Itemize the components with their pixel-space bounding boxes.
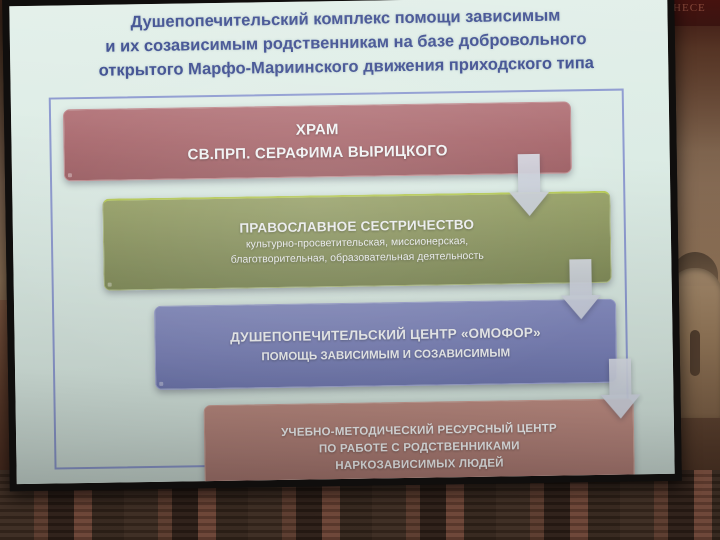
- arrow-down-icon-temple-to-sisterhood: [509, 154, 550, 217]
- arrow-down-icon-sisterhood-to-omofor: [560, 259, 601, 320]
- stage-box-resource-center: УЧЕБНО-МЕТОДИЧЕСКИЙ РЕСУРСНЫЙ ЦЕНТР ПО Р…: [204, 398, 635, 484]
- arrow-2-shaft: [569, 259, 592, 295]
- mural-window-icon: [690, 330, 700, 376]
- slide-title: Душепопечительский комплекс помощи завис…: [31, 2, 660, 84]
- arrow-2-head: [561, 295, 601, 320]
- projector-screen-frame: Душепопечительский комплекс помощи завис…: [2, 0, 682, 491]
- diagram-frame: ХРАМ СВ.ПРП. СЕРАФИМА ВЫРИЦКОГО ПРАВОСЛА…: [49, 89, 630, 470]
- arrow-3-shaft: [609, 358, 632, 394]
- photograph-of-projected-slide: ВЪЗНЕСЕ Душепопечительский комплекс помо…: [0, 0, 720, 540]
- stage-box-omofor-center: ДУШЕПОПЕЧИТЕЛЬСКИЙ ЦЕНТР «ОМОФОР» ПОМОЩЬ…: [154, 299, 617, 390]
- stage-2-corner-nub: [108, 283, 112, 287]
- arrow-3-head: [600, 394, 640, 419]
- stage-1-corner-nub: [68, 173, 72, 177]
- arrow-down-icon-omofor-to-resource-center: [600, 358, 641, 419]
- stage-3-corner-nub: [159, 382, 163, 386]
- stage-box-temple: ХРАМ СВ.ПРП. СЕРАФИМА ВЫРИЦКОГО: [63, 101, 572, 181]
- projector-screen-surface: Душепопечительский комплекс помощи завис…: [9, 0, 674, 484]
- arrow-1-head: [509, 192, 549, 217]
- arrow-1-shaft: [518, 154, 541, 192]
- presentation-slide: Душепопечительский комплекс помощи завис…: [9, 0, 674, 484]
